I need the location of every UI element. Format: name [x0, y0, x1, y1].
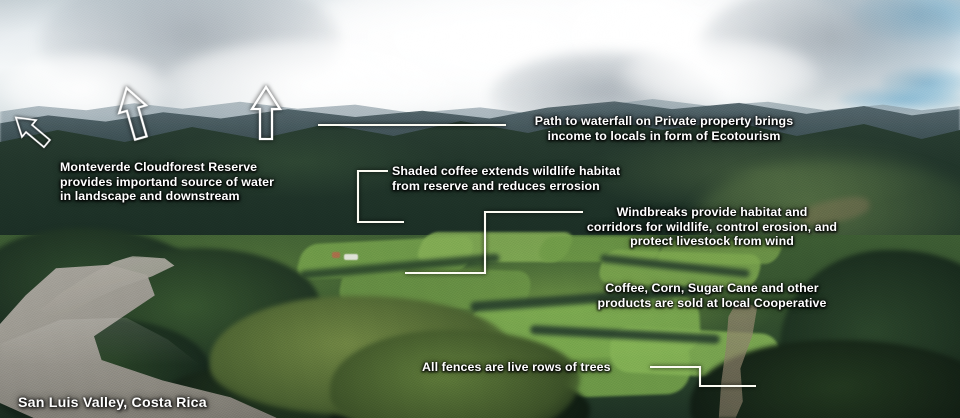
up-arrow-tilted	[113, 84, 154, 142]
live-fences-callout: All fences are live rows of trees	[422, 360, 611, 375]
live-fences-callout-leader-line	[650, 367, 756, 386]
annotated-landscape-photo: Monteverde Cloudforest Reserve provides …	[0, 0, 960, 418]
up-arrow	[252, 87, 280, 139]
windbreaks-callout: Windbreaks provide habitat and corridors…	[587, 205, 837, 249]
windbreaks-callout-leader-line	[405, 212, 583, 273]
local-cooperative-callout: Coffee, Corn, Sugar Cane and other produ…	[598, 281, 827, 310]
annotation-overlay: Monteverde Cloudforest Reserve provides …	[0, 0, 960, 418]
location-caption: San Luis Valley, Costa Rica	[18, 395, 207, 411]
shaded-coffee-callout: Shaded coffee extends wildlife habitat f…	[392, 164, 620, 193]
up-left-arrow	[9, 109, 54, 152]
monteverde-cloudforest-reserve-callout: Monteverde Cloudforest Reserve provides …	[60, 160, 274, 204]
path-to-waterfall-callout: Path to waterfall on Private property br…	[535, 114, 793, 143]
